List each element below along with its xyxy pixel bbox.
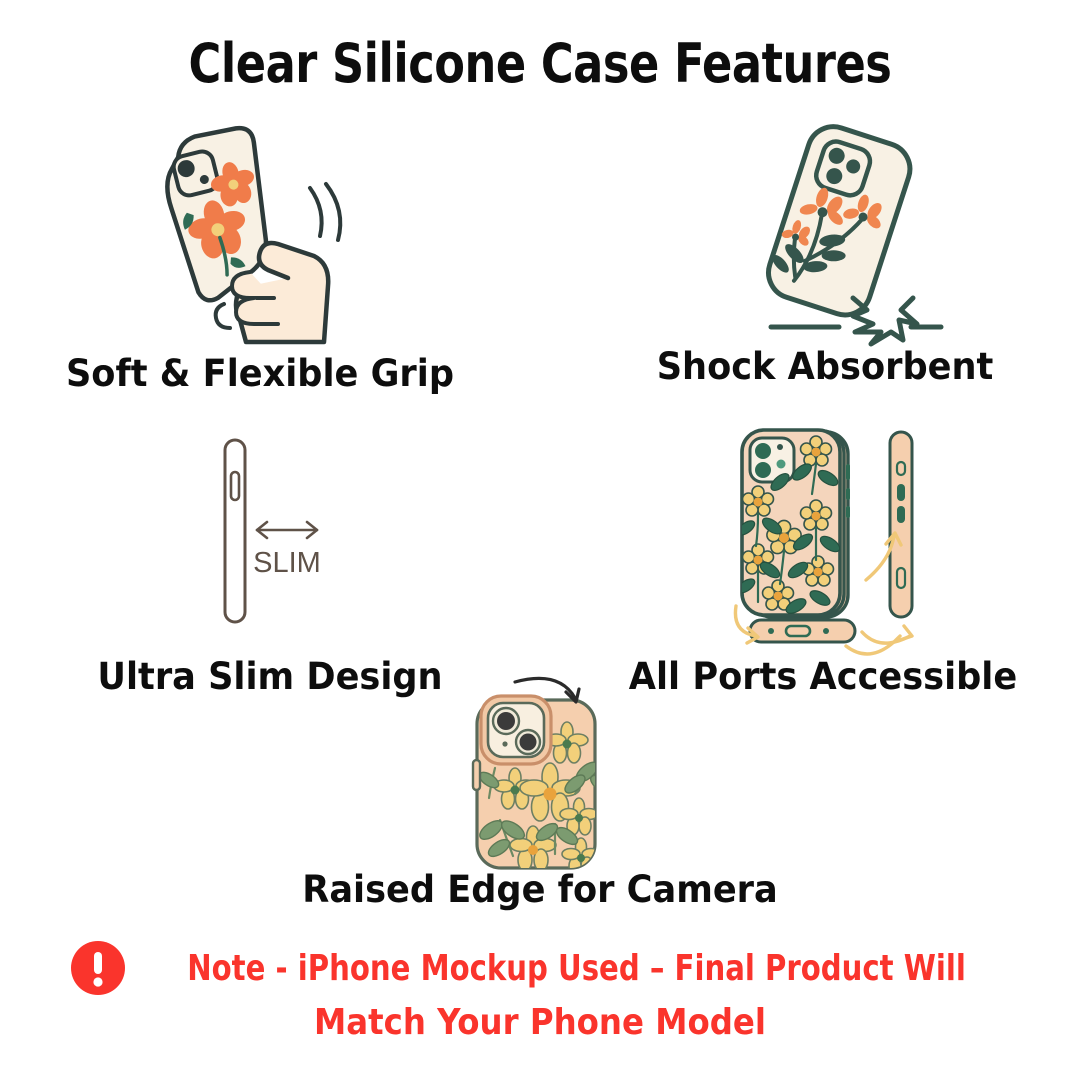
flexing-case-in-hand-icon [156,123,341,342]
raised-edge-camera-illustration [455,672,640,867]
raised-camera-bump [481,696,551,764]
exclamation-circle-icon [70,940,126,996]
soft-flexible-grip-illustration [128,118,388,348]
shock-absorbent-illustration [735,120,945,345]
feature-label-ports: All Ports Accessible [609,655,1037,698]
feature-label-camera: Raised Edge for Camera [279,868,802,911]
slim-profile-icon: SLIM [225,440,321,622]
feature-label-slim: Ultra Slim Design [52,655,489,698]
slim-annotation-text: SLIM [253,547,321,579]
ports-cutouts-icon [735,430,912,654]
feature-label-grip: Soft & Flexible Grip [42,352,479,395]
note-line-2-row: Match Your Phone Model [314,1002,766,1043]
ultra-slim-design-illustration: SLIM [195,432,370,632]
side-profile-view [890,432,912,617]
raised-camera-edge-icon [473,678,614,875]
note-text-line-2: Match Your Phone Model [314,1002,766,1043]
feature-infographic-page: Clear Silicone Case Features [0,0,1080,1080]
note-line-1-row: Note - iPhone Mockup Used – Final Produc… [70,940,1009,996]
drop-impact-icon [760,119,941,344]
note-banner: Note - iPhone Mockup Used – Final Produc… [0,940,1080,1043]
page-title: Clear Silicone Case Features [43,32,1037,95]
note-text-line-1: Note - iPhone Mockup Used – Final Produc… [188,948,967,989]
bottom-edge-view [750,620,855,642]
feature-label-shock: Shock Absorbent [611,345,1039,388]
all-ports-accessible-illustration [720,420,945,660]
